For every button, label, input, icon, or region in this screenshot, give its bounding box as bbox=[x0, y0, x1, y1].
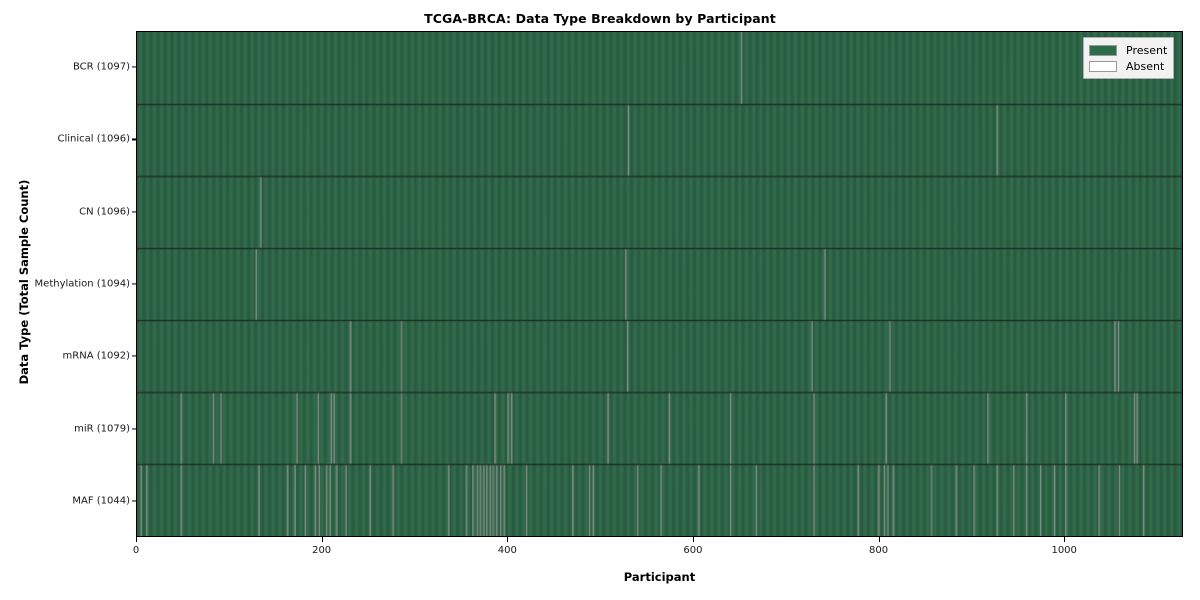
heatmap-canvas bbox=[137, 32, 1182, 536]
x-tick-label: 0 bbox=[133, 545, 139, 556]
legend-swatch-absent bbox=[1089, 61, 1117, 72]
page-title: TCGA-BRCA: Data Type Breakdown by Partic… bbox=[0, 11, 1200, 26]
x-tick-mark bbox=[322, 537, 323, 542]
legend-item-present[interactable]: Present bbox=[1089, 42, 1167, 58]
heatmap-plot-area[interactable] bbox=[136, 31, 1183, 537]
legend-label-present: Present bbox=[1126, 44, 1167, 57]
y-tick-label-bcr: BCR (1097) bbox=[0, 62, 130, 73]
x-tick-label: 1000 bbox=[1051, 545, 1076, 556]
x-axis-title: Participant bbox=[136, 570, 1183, 584]
y-tick-label-clinical: Clinical (1096) bbox=[0, 134, 130, 145]
x-tick-mark bbox=[136, 537, 137, 542]
x-tick-label: 400 bbox=[498, 545, 517, 556]
legend: Present Absent bbox=[1083, 37, 1174, 79]
x-tick-label: 200 bbox=[312, 545, 331, 556]
y-tick-label-methylation: Methylation (1094) bbox=[0, 279, 130, 290]
x-tick-label: 600 bbox=[683, 545, 702, 556]
y-tick-label-mrna: mRNA (1092) bbox=[0, 351, 130, 362]
legend-label-absent: Absent bbox=[1126, 60, 1164, 73]
x-tick-mark bbox=[1064, 537, 1065, 542]
x-tick-mark bbox=[507, 537, 508, 542]
y-tick-label-cn: CN (1096) bbox=[0, 206, 130, 217]
y-tick-label-maf: MAF (1044) bbox=[0, 495, 130, 506]
legend-swatch-present bbox=[1089, 45, 1117, 56]
x-tick-mark bbox=[879, 537, 880, 542]
x-tick-label: 800 bbox=[869, 545, 888, 556]
chart-figure: TCGA-BRCA: Data Type Breakdown by Partic… bbox=[0, 0, 1200, 600]
y-tick-label-mir: miR (1079) bbox=[0, 423, 130, 434]
x-tick-mark bbox=[693, 537, 694, 542]
legend-item-absent[interactable]: Absent bbox=[1089, 58, 1167, 74]
